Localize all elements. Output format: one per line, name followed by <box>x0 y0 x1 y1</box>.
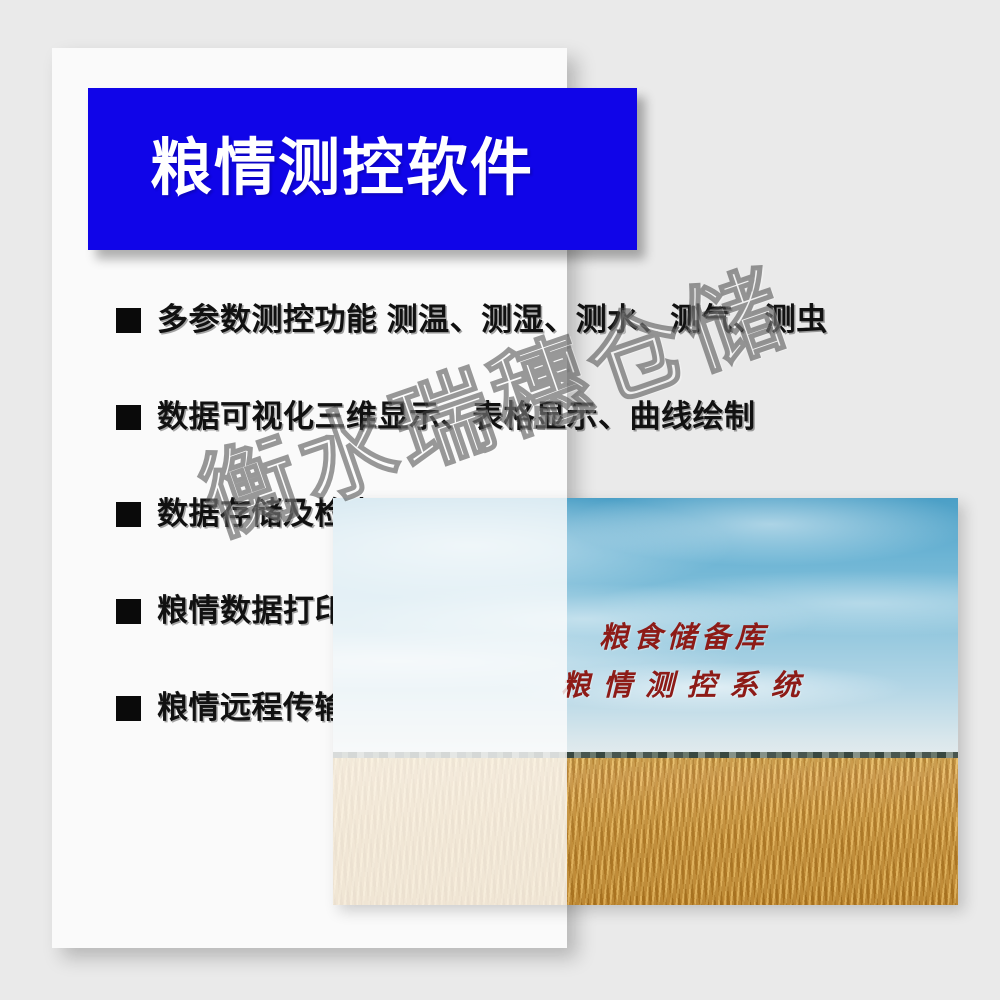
page-title: 粮情测控软件 <box>150 138 534 200</box>
photo-sky-region <box>333 498 958 761</box>
list-item: 数据可视化三维显示、表格显示、曲线绘制 <box>116 397 976 494</box>
feature-text: 数据可视化三维显示、表格显示、曲线绘制 <box>157 397 756 437</box>
list-item: 多参数测控功能 测温、测湿、测水、测气、测虫 <box>116 300 976 397</box>
wheat-field-photo: 粮食储备库 粮情测控系统 <box>333 498 958 905</box>
feature-text: 多参数测控功能 测温、测湿、测水、测气、测虫 <box>157 300 828 340</box>
square-bullet-icon <box>116 308 141 333</box>
poster-canvas: 粮情测控软件 多参数测控功能 测温、测湿、测水、测气、测虫 数据可视化三维显示、… <box>0 0 1000 1000</box>
title-banner: 粮情测控软件 <box>88 88 637 250</box>
square-bullet-icon <box>116 405 141 430</box>
square-bullet-icon <box>116 502 141 527</box>
square-bullet-icon <box>116 696 141 721</box>
photo-wheat-field-region <box>333 758 958 905</box>
square-bullet-icon <box>116 599 141 624</box>
